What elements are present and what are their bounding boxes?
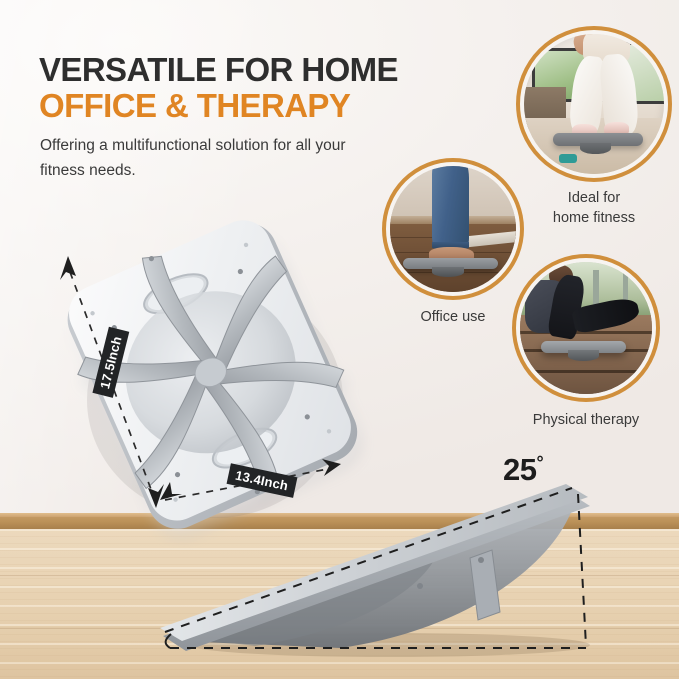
tilt-angle-label: 25° (503, 452, 543, 488)
degree-symbol: ° (536, 453, 543, 473)
product-side-view (0, 0, 679, 679)
tilt-angle-value: 25 (503, 452, 536, 487)
infographic-canvas: VERSATILE FOR HOME OFFICE & THERAPY Offe… (0, 0, 679, 679)
